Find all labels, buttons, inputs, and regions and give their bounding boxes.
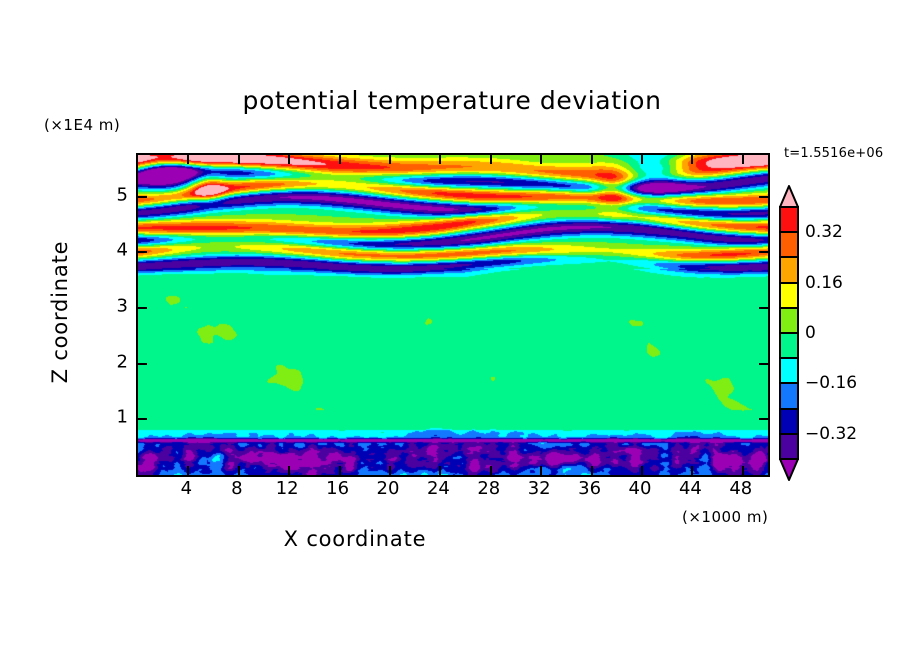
colorbar-separator bbox=[779, 357, 799, 359]
colorbar-band bbox=[779, 283, 799, 308]
y-tick bbox=[759, 251, 768, 253]
x-tick bbox=[641, 155, 643, 164]
x-tick bbox=[540, 155, 542, 164]
x-tick bbox=[187, 466, 189, 475]
x-tick bbox=[439, 155, 441, 164]
x-tick-label: 16 bbox=[326, 478, 349, 499]
colorbar-band bbox=[779, 232, 799, 257]
colorbar-band bbox=[779, 434, 799, 459]
colorbar-separator bbox=[779, 206, 799, 208]
colorbar-band bbox=[779, 207, 799, 232]
x-tick bbox=[641, 466, 643, 475]
x-axis-title: X coordinate bbox=[0, 527, 710, 551]
colorbar-separator bbox=[779, 307, 799, 309]
x-tick bbox=[339, 155, 341, 164]
colorbar-band bbox=[779, 409, 799, 434]
y-axis-title: Z coordinate bbox=[48, 192, 72, 432]
x-tick bbox=[742, 155, 744, 164]
x-tick bbox=[742, 466, 744, 475]
x-tick-label: 8 bbox=[231, 478, 242, 499]
colorbar-separator bbox=[779, 332, 799, 334]
contour-plot-area bbox=[136, 153, 770, 477]
y-tick-label: 4 bbox=[117, 240, 128, 261]
y-tick-label: 3 bbox=[117, 296, 128, 317]
y-tick bbox=[138, 251, 147, 253]
y-axis-tick-labels: 12345 bbox=[88, 153, 128, 473]
x-tick-label: 36 bbox=[578, 478, 601, 499]
x-tick bbox=[691, 466, 693, 475]
y-tick bbox=[138, 307, 147, 309]
colorbar-tick-label: 0.16 bbox=[805, 273, 843, 293]
x-tick-label: 32 bbox=[528, 478, 551, 499]
x-tick bbox=[339, 466, 341, 475]
colorbar-separator bbox=[779, 256, 799, 258]
colorbar-separator bbox=[779, 433, 799, 435]
x-tick bbox=[288, 466, 290, 475]
x-tick bbox=[591, 466, 593, 475]
y-tick bbox=[138, 196, 147, 198]
y-tick bbox=[138, 363, 147, 365]
x-tick bbox=[490, 466, 492, 475]
x-tick bbox=[187, 155, 189, 164]
colorbar-under-cap bbox=[779, 459, 799, 481]
page-title: potential temperature deviation bbox=[0, 86, 904, 115]
colorbar-band bbox=[779, 383, 799, 408]
colorbar-band bbox=[779, 333, 799, 358]
x-tick-label: 44 bbox=[679, 478, 702, 499]
colorbar-separator bbox=[779, 282, 799, 284]
x-tick-label: 28 bbox=[477, 478, 500, 499]
colorbar-band bbox=[779, 308, 799, 333]
x-tick bbox=[389, 466, 391, 475]
x-tick bbox=[288, 155, 290, 164]
colorbar-tick-label: 0 bbox=[805, 323, 816, 343]
y-tick-label: 2 bbox=[117, 351, 128, 372]
x-tick bbox=[691, 155, 693, 164]
colorbar-separator bbox=[779, 408, 799, 410]
colorbar: 0.320.160−0.16−0.32 bbox=[779, 207, 799, 459]
colorbar-separator bbox=[779, 382, 799, 384]
y-tick bbox=[759, 418, 768, 420]
x-tick bbox=[540, 466, 542, 475]
x-tick-label: 48 bbox=[729, 478, 752, 499]
x-tick-label: 24 bbox=[427, 478, 450, 499]
y-tick-label: 1 bbox=[117, 407, 128, 428]
y-tick bbox=[759, 307, 768, 309]
x-tick bbox=[238, 155, 240, 164]
colorbar-band bbox=[779, 358, 799, 383]
x-tick bbox=[490, 155, 492, 164]
x-tick bbox=[238, 466, 240, 475]
x-tick-label: 20 bbox=[377, 478, 400, 499]
temperature-deviation-field bbox=[138, 155, 768, 475]
x-tick bbox=[591, 155, 593, 164]
x-tick-label: 40 bbox=[629, 478, 652, 499]
colorbar-band bbox=[779, 257, 799, 282]
x-tick-label: 4 bbox=[181, 478, 192, 499]
colorbar-tick-label: −0.16 bbox=[805, 373, 857, 393]
x-tick bbox=[389, 155, 391, 164]
x-tick bbox=[439, 466, 441, 475]
time-stamp-annotation: t=1.5516e+06 bbox=[784, 146, 883, 161]
y-tick bbox=[759, 363, 768, 365]
z-axis-units: (×1E4 m) bbox=[44, 116, 120, 134]
colorbar-separator bbox=[779, 231, 799, 233]
colorbar-over-cap bbox=[779, 185, 799, 207]
x-tick-label: 12 bbox=[276, 478, 299, 499]
colorbar-tick-label: 0.32 bbox=[805, 222, 843, 242]
y-tick bbox=[138, 418, 147, 420]
y-tick bbox=[759, 196, 768, 198]
colorbar-tick-label: −0.32 bbox=[805, 424, 857, 444]
y-tick-label: 5 bbox=[117, 184, 128, 205]
x-axis-units: (×1000 m) bbox=[682, 508, 768, 526]
